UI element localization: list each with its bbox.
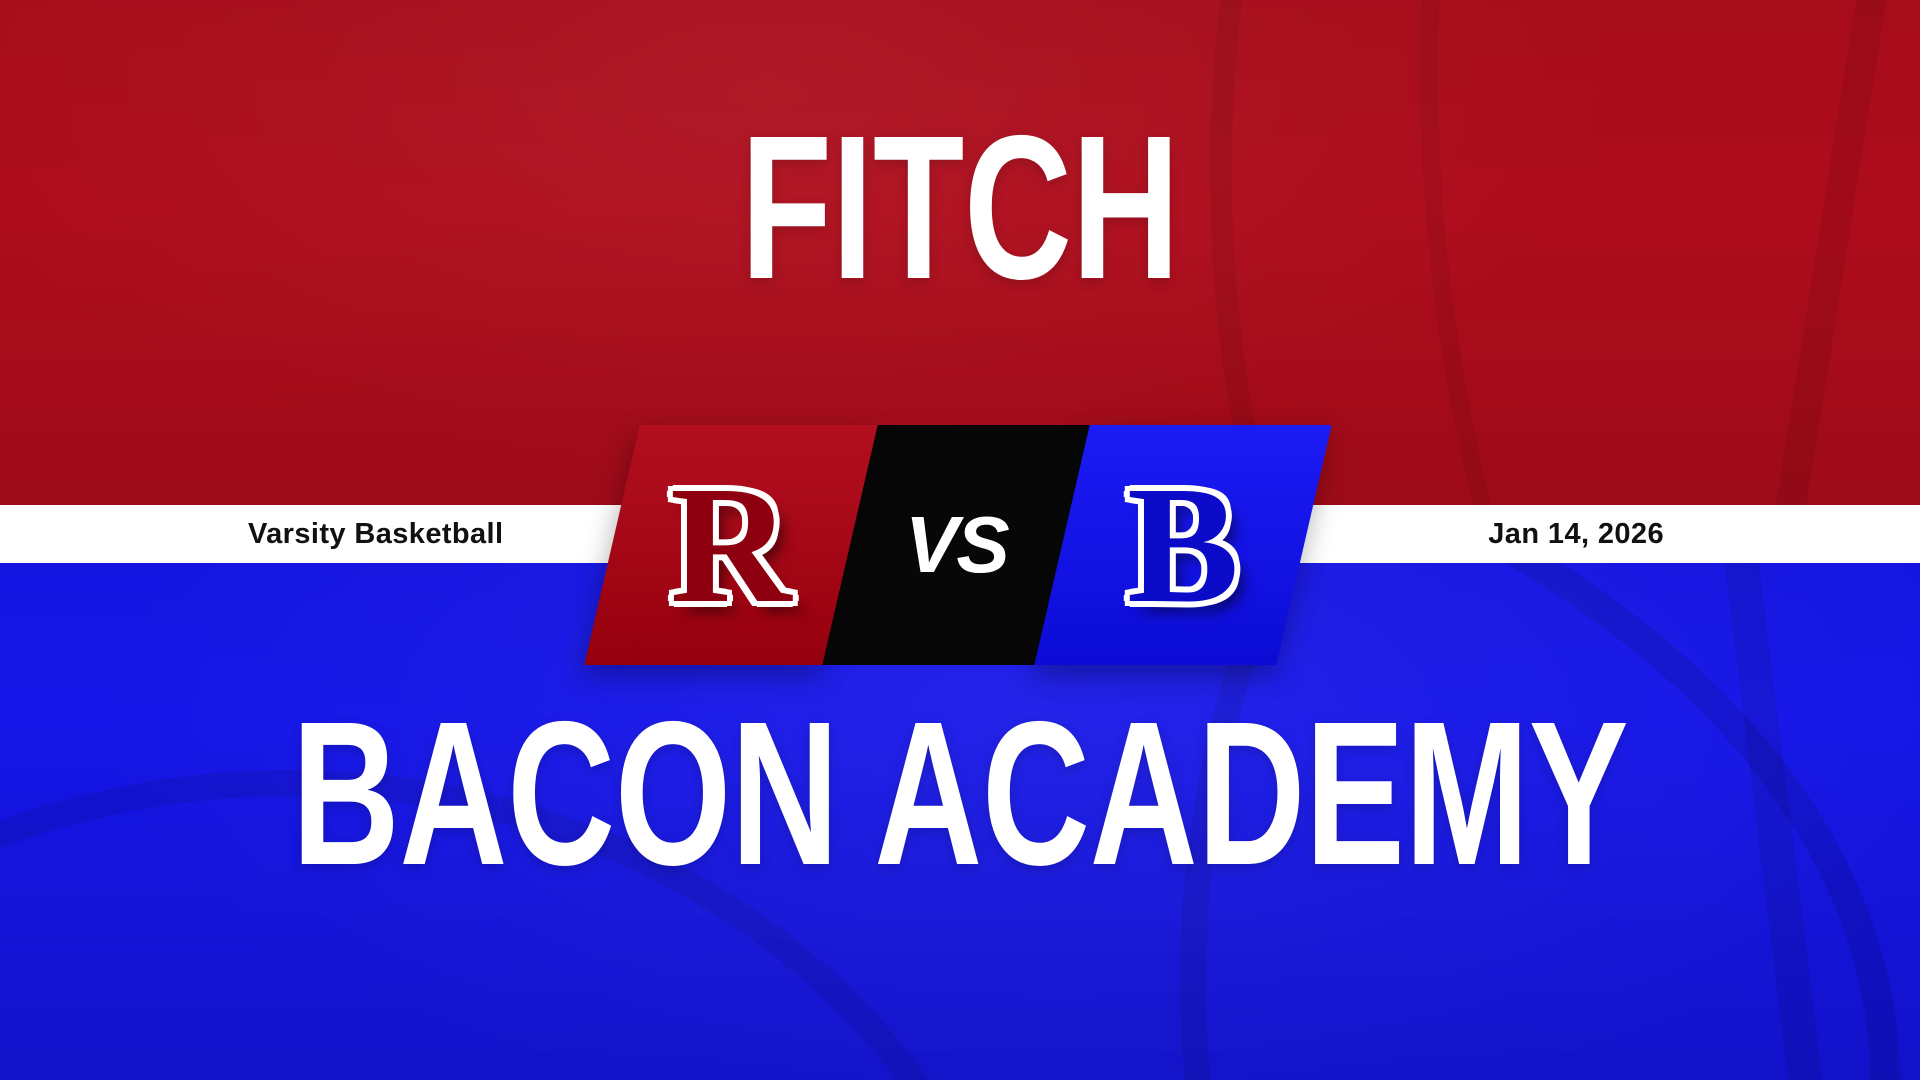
matchup-graphic: FITCH BACON ACADEMY Varsity Basketball J… <box>0 0 1920 1080</box>
home-team-initial: B <box>1127 461 1239 629</box>
game-date: Jan 14, 2026 <box>1488 505 1664 563</box>
versus-label: VS <box>905 505 1008 585</box>
away-team-name: FITCH <box>259 120 1661 296</box>
home-team-name: BACON ACADEMY <box>259 706 1661 882</box>
sport-label: Varsity Basketball <box>248 505 503 563</box>
away-team-initial: R <box>670 461 791 629</box>
